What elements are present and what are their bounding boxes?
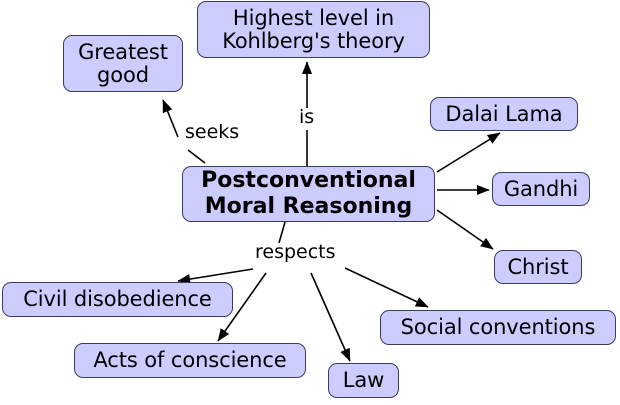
edge-label-is: is [297, 108, 316, 127]
edge-to-social-conventions [345, 268, 428, 307]
concept-map-canvas: Highest level in Kohlberg's theory Great… [0, 0, 620, 405]
node-label: Dalai Lama [445, 103, 562, 125]
node-highest-level[interactable]: Highest level in Kohlberg's theory [197, 1, 430, 58]
node-label: Greatest good [78, 41, 168, 86]
edge-respects-stem [279, 222, 285, 243]
node-gandhi[interactable]: Gandhi [492, 172, 590, 206]
node-acts-of-conscience[interactable]: Acts of conscience [74, 343, 306, 378]
edge-to-dalai-lama [437, 133, 500, 172]
node-label: Gandhi [504, 178, 578, 200]
node-civil-disobedience[interactable]: Civil disobedience [2, 282, 233, 317]
node-law[interactable]: Law [328, 363, 399, 398]
node-christ[interactable]: Christ [494, 250, 582, 284]
node-label: Highest level in Kohlberg's theory [222, 7, 405, 52]
node-label: Civil disobedience [23, 288, 212, 310]
edge-to-christ [437, 210, 493, 249]
node-social-conventions[interactable]: Social conventions [380, 310, 616, 345]
node-label: Postconventional Moral Reasoning [201, 168, 416, 220]
edge-to-law [311, 273, 350, 361]
node-label: Acts of conscience [93, 349, 286, 371]
edge-label-seeks: seeks [183, 123, 241, 142]
node-postconventional-moral-reasoning[interactable]: Postconventional Moral Reasoning [182, 166, 435, 222]
node-label: Social conventions [401, 316, 596, 338]
edge-label-respects: respects [253, 243, 338, 262]
node-label: Law [343, 369, 384, 391]
node-dalai-lama[interactable]: Dalai Lama [430, 97, 578, 131]
node-greatest-good[interactable]: Greatest good [63, 35, 183, 92]
node-label: Christ [507, 256, 568, 278]
edge-to-civil-disobedience [178, 269, 253, 281]
